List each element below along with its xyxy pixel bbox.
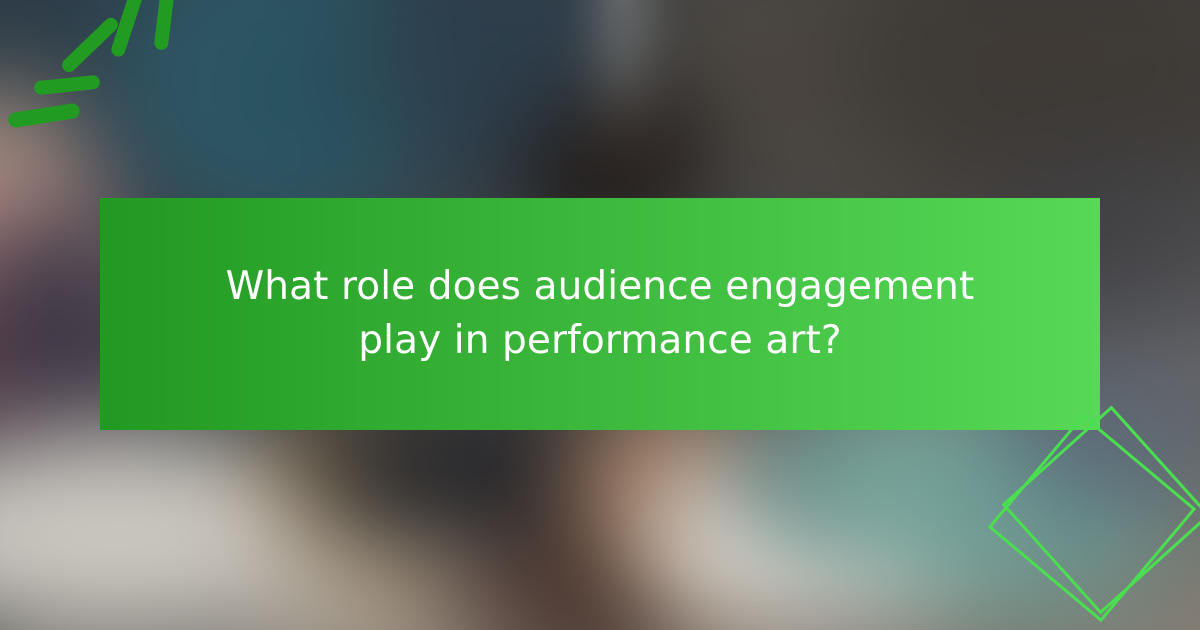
question-banner: What role does audience engagement play … bbox=[100, 198, 1100, 430]
social-share-card: What role does audience engagement play … bbox=[0, 0, 1200, 630]
question-title: What role does audience engagement play … bbox=[205, 260, 995, 368]
